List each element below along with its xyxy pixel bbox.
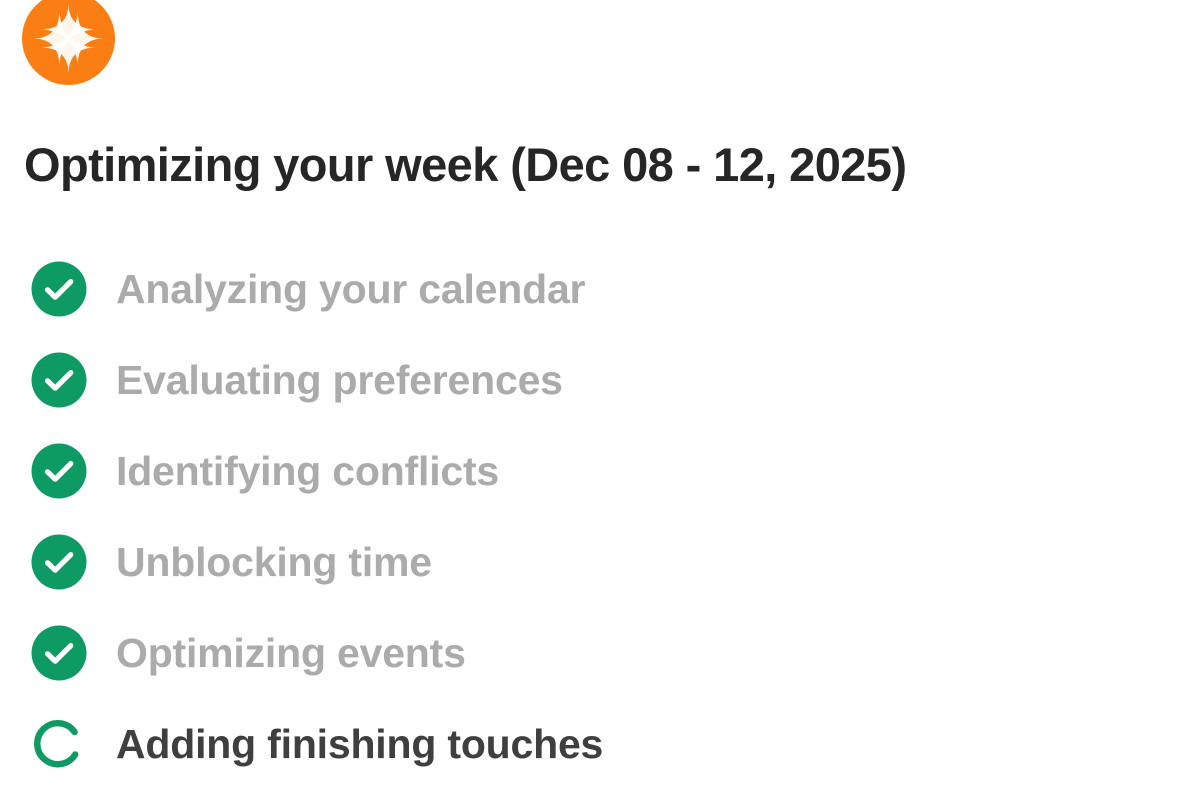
check-circle-icon [31, 625, 87, 681]
progress-step-label: Identifying conflicts [116, 447, 499, 495]
progress-step-unblocking-time: Unblocking time [0, 516, 1200, 607]
app-logo [22, 0, 115, 85]
progress-step-label: Optimizing events [116, 629, 466, 677]
progress-step-optimizing-events: Optimizing events [0, 607, 1200, 698]
check-circle-icon [31, 443, 87, 499]
check-circle-icon [31, 352, 87, 408]
progress-step-label: Unblocking time [116, 538, 432, 586]
progress-step-label: Adding finishing touches [116, 720, 603, 768]
progress-step-adding-finishing-touches: Adding finishing touches [0, 698, 1200, 789]
page-title: Optimizing your week (Dec 08 - 12, 2025) [24, 136, 1174, 194]
progress-step-evaluating-preferences: Evaluating preferences [0, 334, 1200, 425]
check-circle-icon [31, 534, 87, 590]
progress-step-analyzing-your-calendar: Analyzing your calendar [0, 243, 1200, 334]
loading-spinner-icon [31, 716, 87, 772]
progress-screen: Optimizing your week (Dec 08 - 12, 2025)… [0, 0, 1200, 811]
progress-step-label: Analyzing your calendar [116, 265, 585, 313]
sparkle-star-icon [22, 0, 115, 85]
progress-step-identifying-conflicts: Identifying conflicts [0, 425, 1200, 516]
progress-step-list: Analyzing your calendar Evaluating prefe… [0, 243, 1200, 789]
check-circle-icon [31, 261, 87, 317]
progress-step-label: Evaluating preferences [116, 356, 563, 404]
